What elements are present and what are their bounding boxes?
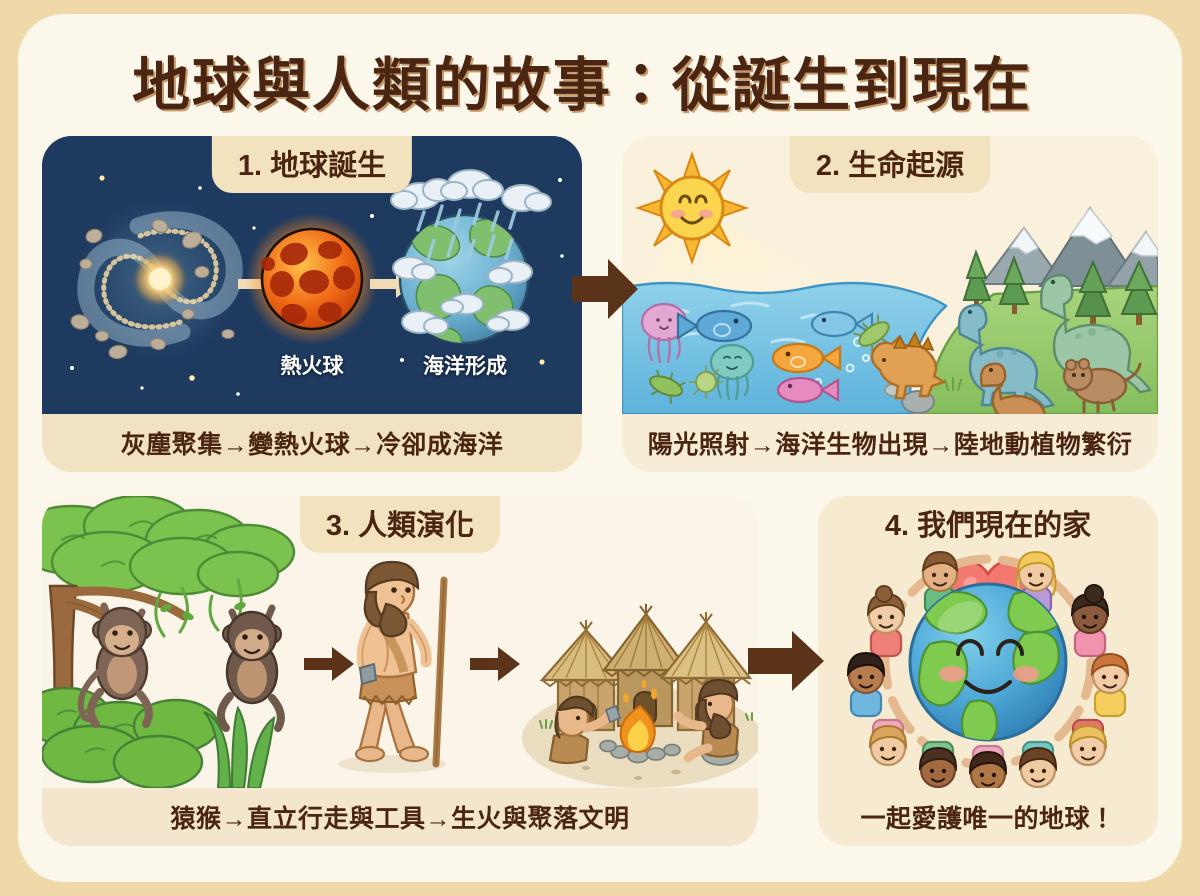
panel4-badge: 4. 我們現在的家	[859, 496, 1117, 553]
lava-planet-icon	[246, 213, 378, 345]
page-title: 地球與人類的故事：從誕生到現在	[0, 38, 1164, 122]
connector-panel3-to-panel4	[748, 630, 826, 692]
label-hot-fireball: 熱火球	[260, 350, 364, 380]
panel3-badge: 3. 人類演化	[300, 496, 500, 553]
panel-human-evolution[interactable]: 3. 人類演化 猿猴→直立行走與工具→生火與聚落文明	[42, 496, 758, 846]
panel4-caption: 一起愛護唯一的地球！	[818, 788, 1158, 846]
panel2-caption: 陽光照射→海洋生物出現→陸地動植物繁衍	[622, 414, 1158, 472]
panel3-caption: 猿猴→直立行走與工具→生火與聚落文明	[42, 788, 758, 846]
connector-panel1-to-panel2	[572, 258, 640, 320]
panel-our-home[interactable]: 4. 我們現在的家 一起愛護唯一的地球！	[818, 496, 1158, 846]
panel2-badge: 2. 生命起源	[790, 136, 990, 193]
panel1-caption: 灰塵聚集→變熱火球→冷卻成海洋	[42, 414, 582, 472]
panel1-badge: 1. 地球誕生	[212, 136, 412, 193]
infographic-page: 地球與人類的故事：從誕生到現在	[0, 0, 1200, 896]
panel-earth-birth[interactable]: 熱火球 海洋形成 1. 地球誕生 灰塵聚集→變熱火球→冷卻成海洋	[42, 136, 582, 472]
smiling-sun-icon	[638, 154, 746, 262]
panel-origin-of-life[interactable]: 2. 生命起源 陽光照射→海洋生物出現→陸地動植物繁衍	[622, 136, 1158, 472]
label-ocean-formation: 海洋形成	[410, 350, 520, 380]
